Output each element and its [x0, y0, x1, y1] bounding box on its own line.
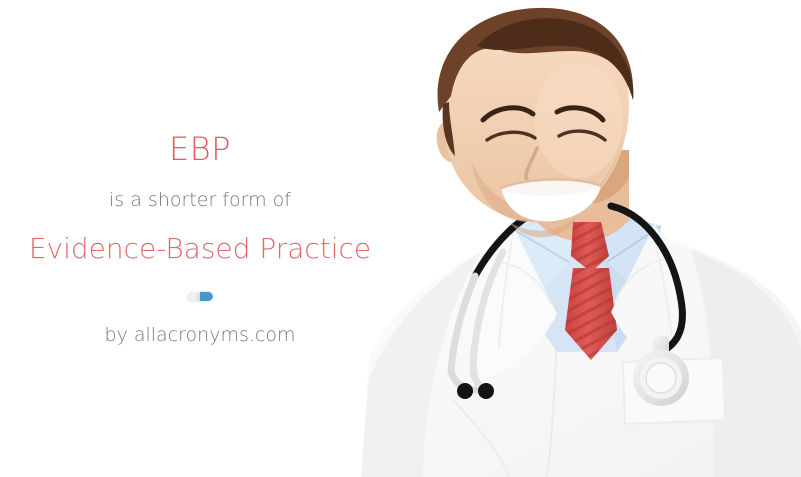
smiling-doctor-illustration	[361, 0, 801, 477]
stethoscope-earpiece-right	[478, 383, 494, 399]
pill-capsule-icon	[187, 291, 213, 301]
stethoscope-earpiece-left	[457, 383, 473, 399]
byline-text: by allacronyms.com	[105, 326, 296, 345]
long-form-text: Evidence-Based Practice	[29, 235, 371, 263]
separator	[187, 290, 213, 302]
acronym-title: EBP	[169, 133, 231, 165]
doctor-svg	[361, 0, 801, 477]
acronym-text-block: EBP is a shorter form of Evidence-Based …	[0, 0, 400, 477]
connector-text: is a shorter form of	[109, 191, 291, 210]
acronym-card: EBP is a shorter form of Evidence-Based …	[0, 0, 801, 477]
